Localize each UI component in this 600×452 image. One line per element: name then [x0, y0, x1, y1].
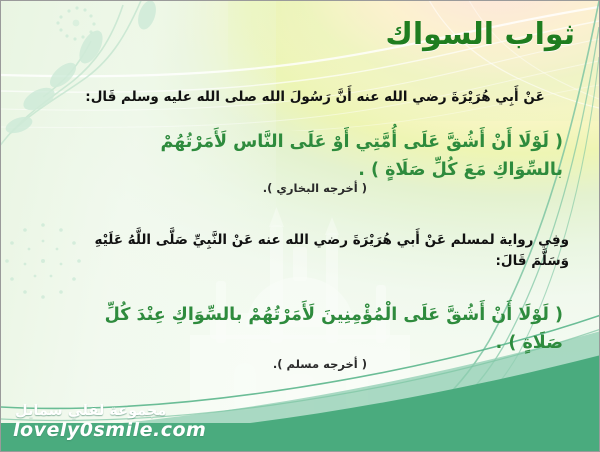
- hadith-text-2: ( لَوْلَا أَنْ أَشُقَّ عَلَى الْمُؤْمِنِ…: [89, 301, 563, 358]
- narrator-line-2: وفِي رواية لمسلم عَنْ أَبي هُرَيْرَةَ رض…: [67, 230, 569, 272]
- hadith-text-1: ( لَوْلَا أَنْ أَشُقَّ عَلَى أُمَّتِي أَ…: [89, 128, 563, 185]
- card-content: ثواب السواك عَنْ أَبِي هُرَيْرَةَ رضي ال…: [1, 1, 599, 451]
- hadith-source-2: ( أخرجه مسلم ).: [273, 357, 367, 371]
- hadith-source-1: ( أخرجه البخاري ).: [263, 181, 367, 195]
- footer-brand-arabic: مجموعة لفلي سمايل: [15, 403, 166, 419]
- footer-website-url: lovely0smile.com: [13, 419, 206, 441]
- page-title: ثواب السواك: [385, 17, 575, 52]
- narrator-line-1: عَنْ أَبِي هُرَيْرَةَ رضي الله عنه أَنَّ…: [61, 87, 569, 108]
- islamic-quote-card: ثواب السواك عَنْ أَبِي هُرَيْرَةَ رضي ال…: [0, 0, 600, 452]
